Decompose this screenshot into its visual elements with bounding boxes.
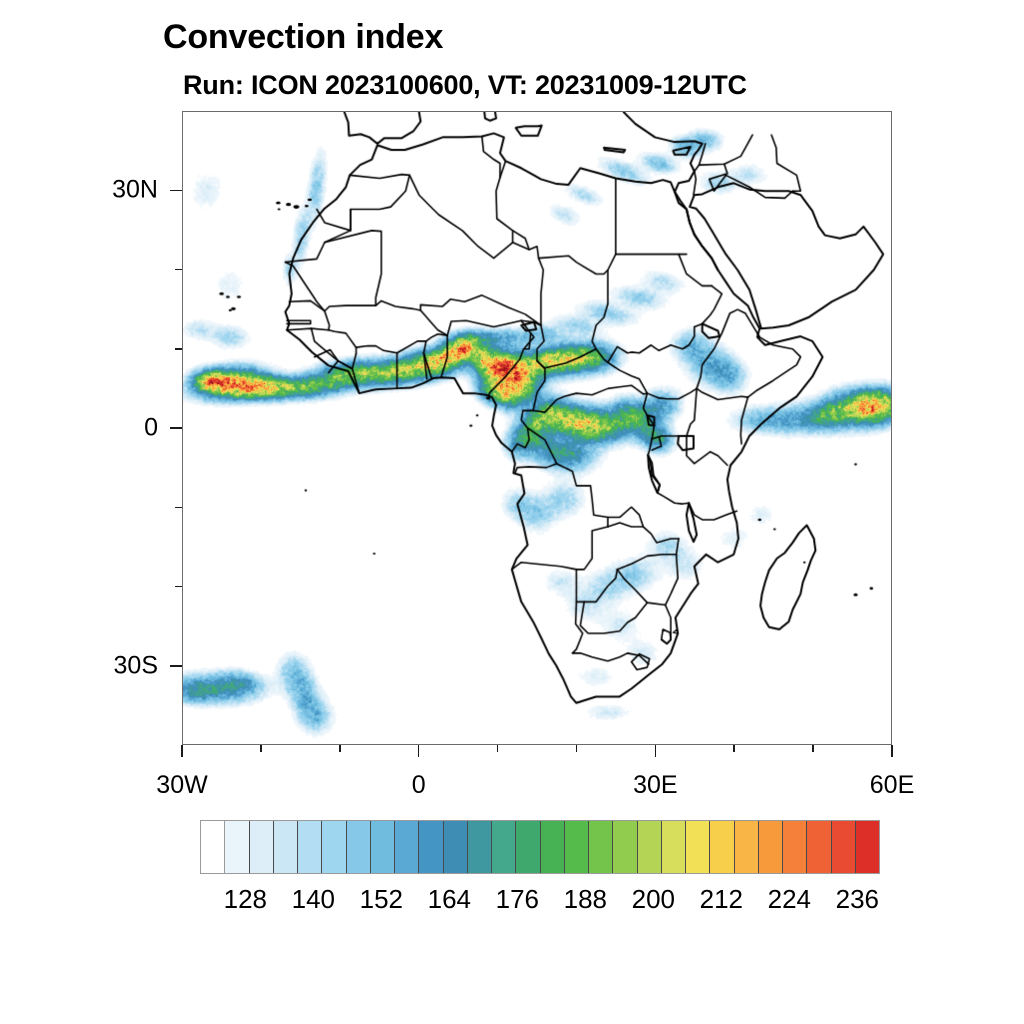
colorbar-cell <box>371 821 395 873</box>
x-tick-major <box>418 745 420 757</box>
x-tick-label: 30E <box>633 771 677 800</box>
y-tick-label: 30N <box>0 176 158 205</box>
map-plot-area <box>182 111 892 745</box>
colorbar-cell <box>832 821 856 873</box>
colorbar-cell <box>274 821 298 873</box>
colorbar-tick-label: 212 <box>700 884 743 915</box>
colorbar-cell <box>322 821 346 873</box>
x-tick-label: 60E <box>870 771 914 800</box>
page-title: Convection index <box>163 18 443 57</box>
colorbar-cell <box>225 821 249 873</box>
x-tick-major <box>655 745 657 757</box>
colorbar-tick-label: 176 <box>496 884 539 915</box>
y-tick-minor <box>175 586 182 588</box>
colorbar-cell <box>419 821 443 873</box>
y-tick-minor <box>175 507 182 509</box>
y-tick-label: 0 <box>0 414 158 443</box>
y-tick-minor <box>175 348 182 350</box>
colorbar-cell <box>541 821 565 873</box>
colorbar-cell <box>492 821 516 873</box>
colorbar-cell <box>516 821 540 873</box>
x-tick-minor <box>576 745 578 752</box>
colorbar-tick-label: 188 <box>564 884 607 915</box>
x-tick-minor <box>339 745 341 752</box>
y-tick-major <box>170 665 182 667</box>
colorbar-cell <box>589 821 613 873</box>
x-tick-label: 30W <box>156 771 207 800</box>
colorbar-cell <box>759 821 783 873</box>
colorbar-tick-label: 200 <box>632 884 675 915</box>
colorbar-cell <box>565 821 589 873</box>
y-tick-label: 30S <box>0 651 158 680</box>
x-tick-minor <box>497 745 499 752</box>
figure-root: Convection index Run: ICON 2023100600, V… <box>0 0 1024 1024</box>
y-tick-major <box>170 190 182 192</box>
colorbar-cell <box>444 821 468 873</box>
colorbar-cell <box>613 821 637 873</box>
figure-subtitle: Run: ICON 2023100600, VT: 20231009-12UTC <box>183 70 747 101</box>
x-tick-major <box>181 745 183 757</box>
colorbar-cell <box>807 821 831 873</box>
convection-index-heatmap <box>183 112 891 744</box>
colorbar-cell <box>395 821 419 873</box>
colorbar-cell <box>783 821 807 873</box>
colorbar-tick-label: 236 <box>836 884 879 915</box>
colorbar-tick-label: 164 <box>428 884 471 915</box>
colorbar-cell <box>662 821 686 873</box>
colorbar-tick-label: 128 <box>224 884 267 915</box>
colorbar-cell <box>250 821 274 873</box>
colorbar-tick-label: 140 <box>292 884 335 915</box>
x-tick-minor <box>733 745 735 752</box>
colorbar-cell <box>347 821 371 873</box>
colorbar <box>200 820 880 874</box>
colorbar-cell <box>856 821 879 873</box>
colorbar-cell <box>638 821 662 873</box>
x-tick-minor <box>812 745 814 752</box>
colorbar-cell <box>686 821 710 873</box>
y-tick-major <box>170 427 182 429</box>
y-tick-minor <box>175 269 182 271</box>
colorbar-tick-label: 152 <box>360 884 403 915</box>
colorbar-cell <box>298 821 322 873</box>
colorbar-cell <box>710 821 734 873</box>
colorbar-tick-label: 224 <box>768 884 811 915</box>
x-tick-minor <box>260 745 262 752</box>
colorbar-cell <box>735 821 759 873</box>
colorbar-cell <box>201 821 225 873</box>
x-tick-major <box>891 745 893 757</box>
colorbar-cell <box>468 821 492 873</box>
x-tick-label: 0 <box>412 771 426 800</box>
